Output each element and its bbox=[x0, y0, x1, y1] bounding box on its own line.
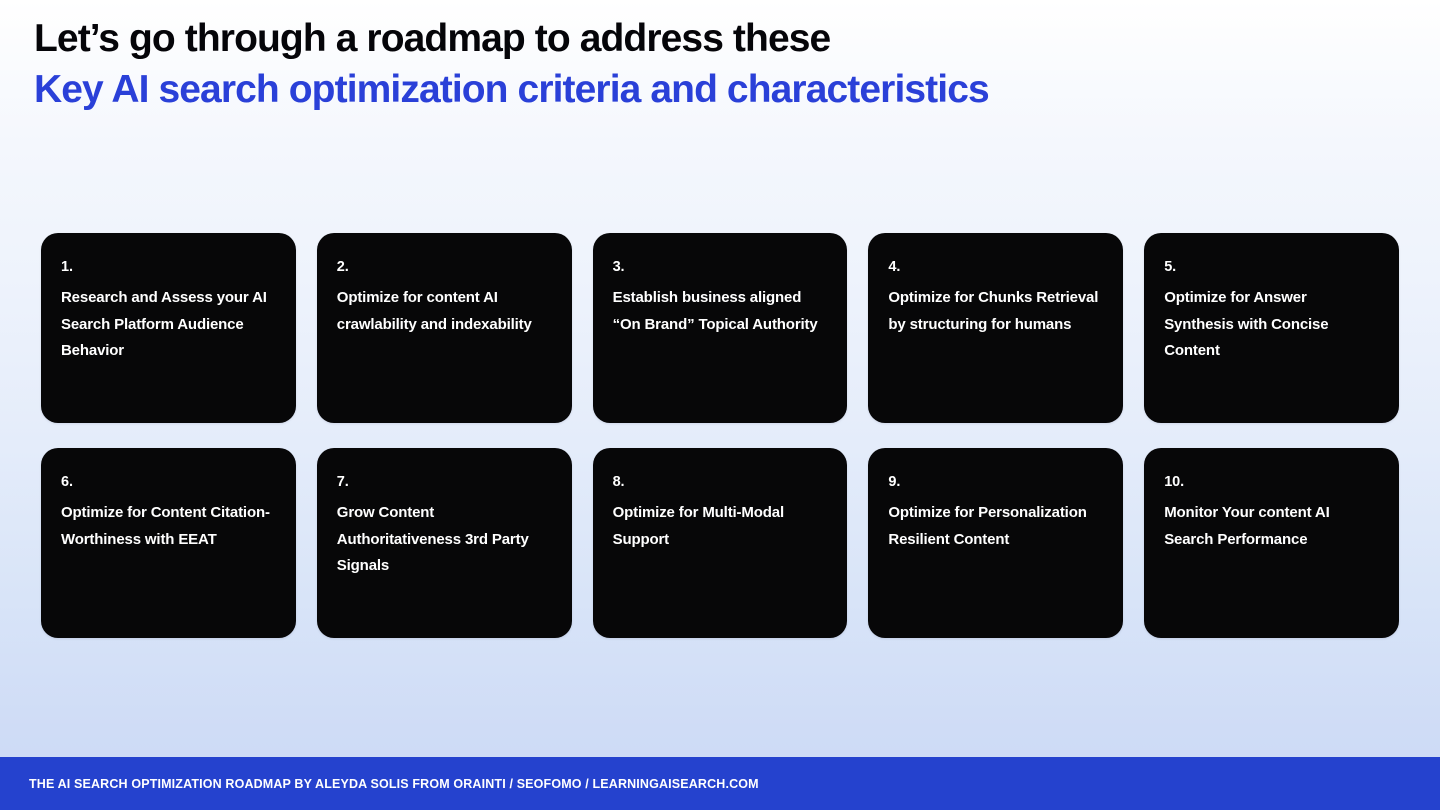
roadmap-card[interactable]: 5. Optimize for Answer Synthesis with Co… bbox=[1144, 233, 1399, 423]
page-title: Let’s go through a roadmap to address th… bbox=[34, 14, 1404, 116]
card-number: 5. bbox=[1164, 257, 1379, 277]
slide-root: Let’s go through a roadmap to address th… bbox=[0, 0, 1440, 810]
card-label: Optimize for Answer Synthesis with Conci… bbox=[1164, 285, 1379, 365]
card-number: 9. bbox=[888, 472, 1103, 492]
roadmap-card[interactable]: 1. Research and Assess your AI Search Pl… bbox=[41, 233, 296, 423]
card-label: Optimize for Chunks Retrieval by structu… bbox=[888, 285, 1103, 338]
title-line-secondary: Key AI search optimization criteria and … bbox=[34, 64, 1404, 116]
card-label: Grow Content Authoritativeness 3rd Party… bbox=[337, 500, 552, 580]
roadmap-card[interactable]: 6. Optimize for Content Citation-Worthin… bbox=[41, 448, 296, 638]
card-number: 7. bbox=[337, 472, 552, 492]
roadmap-card[interactable]: 3. Establish business aligned “On Brand”… bbox=[593, 233, 848, 423]
card-number: 8. bbox=[613, 472, 828, 492]
card-label: Optimize for Multi-Modal Support bbox=[613, 500, 828, 553]
roadmap-card-grid: 1. Research and Assess your AI Search Pl… bbox=[41, 233, 1399, 638]
footer-bar: THE AI SEARCH OPTIMIZATION ROADMAP BY AL… bbox=[0, 757, 1440, 810]
card-label: Optimize for content AI crawlability and… bbox=[337, 285, 552, 338]
card-label: Monitor Your content AI Search Performan… bbox=[1164, 500, 1379, 553]
roadmap-card[interactable]: 2. Optimize for content AI crawlability … bbox=[317, 233, 572, 423]
card-number: 10. bbox=[1164, 472, 1379, 492]
card-number: 2. bbox=[337, 257, 552, 277]
card-number: 6. bbox=[61, 472, 276, 492]
roadmap-card[interactable]: 8. Optimize for Multi-Modal Support bbox=[593, 448, 848, 638]
card-label: Establish business aligned “On Brand” To… bbox=[613, 285, 828, 338]
roadmap-card[interactable]: 10. Monitor Your content AI Search Perfo… bbox=[1144, 448, 1399, 638]
card-label: Optimize for Content Citation-Worthiness… bbox=[61, 500, 276, 553]
roadmap-card[interactable]: 9. Optimize for Personalization Resilien… bbox=[868, 448, 1123, 638]
card-number: 1. bbox=[61, 257, 276, 277]
card-number: 3. bbox=[613, 257, 828, 277]
title-line-primary: Let’s go through a roadmap to address th… bbox=[34, 14, 1404, 64]
roadmap-card[interactable]: 7. Grow Content Authoritativeness 3rd Pa… bbox=[317, 448, 572, 638]
footer-attribution: THE AI SEARCH OPTIMIZATION ROADMAP BY AL… bbox=[29, 757, 759, 810]
card-number: 4. bbox=[888, 257, 1103, 277]
roadmap-card[interactable]: 4. Optimize for Chunks Retrieval by stru… bbox=[868, 233, 1123, 423]
card-label: Research and Assess your AI Search Platf… bbox=[61, 285, 276, 365]
card-label: Optimize for Personalization Resilient C… bbox=[888, 500, 1103, 553]
